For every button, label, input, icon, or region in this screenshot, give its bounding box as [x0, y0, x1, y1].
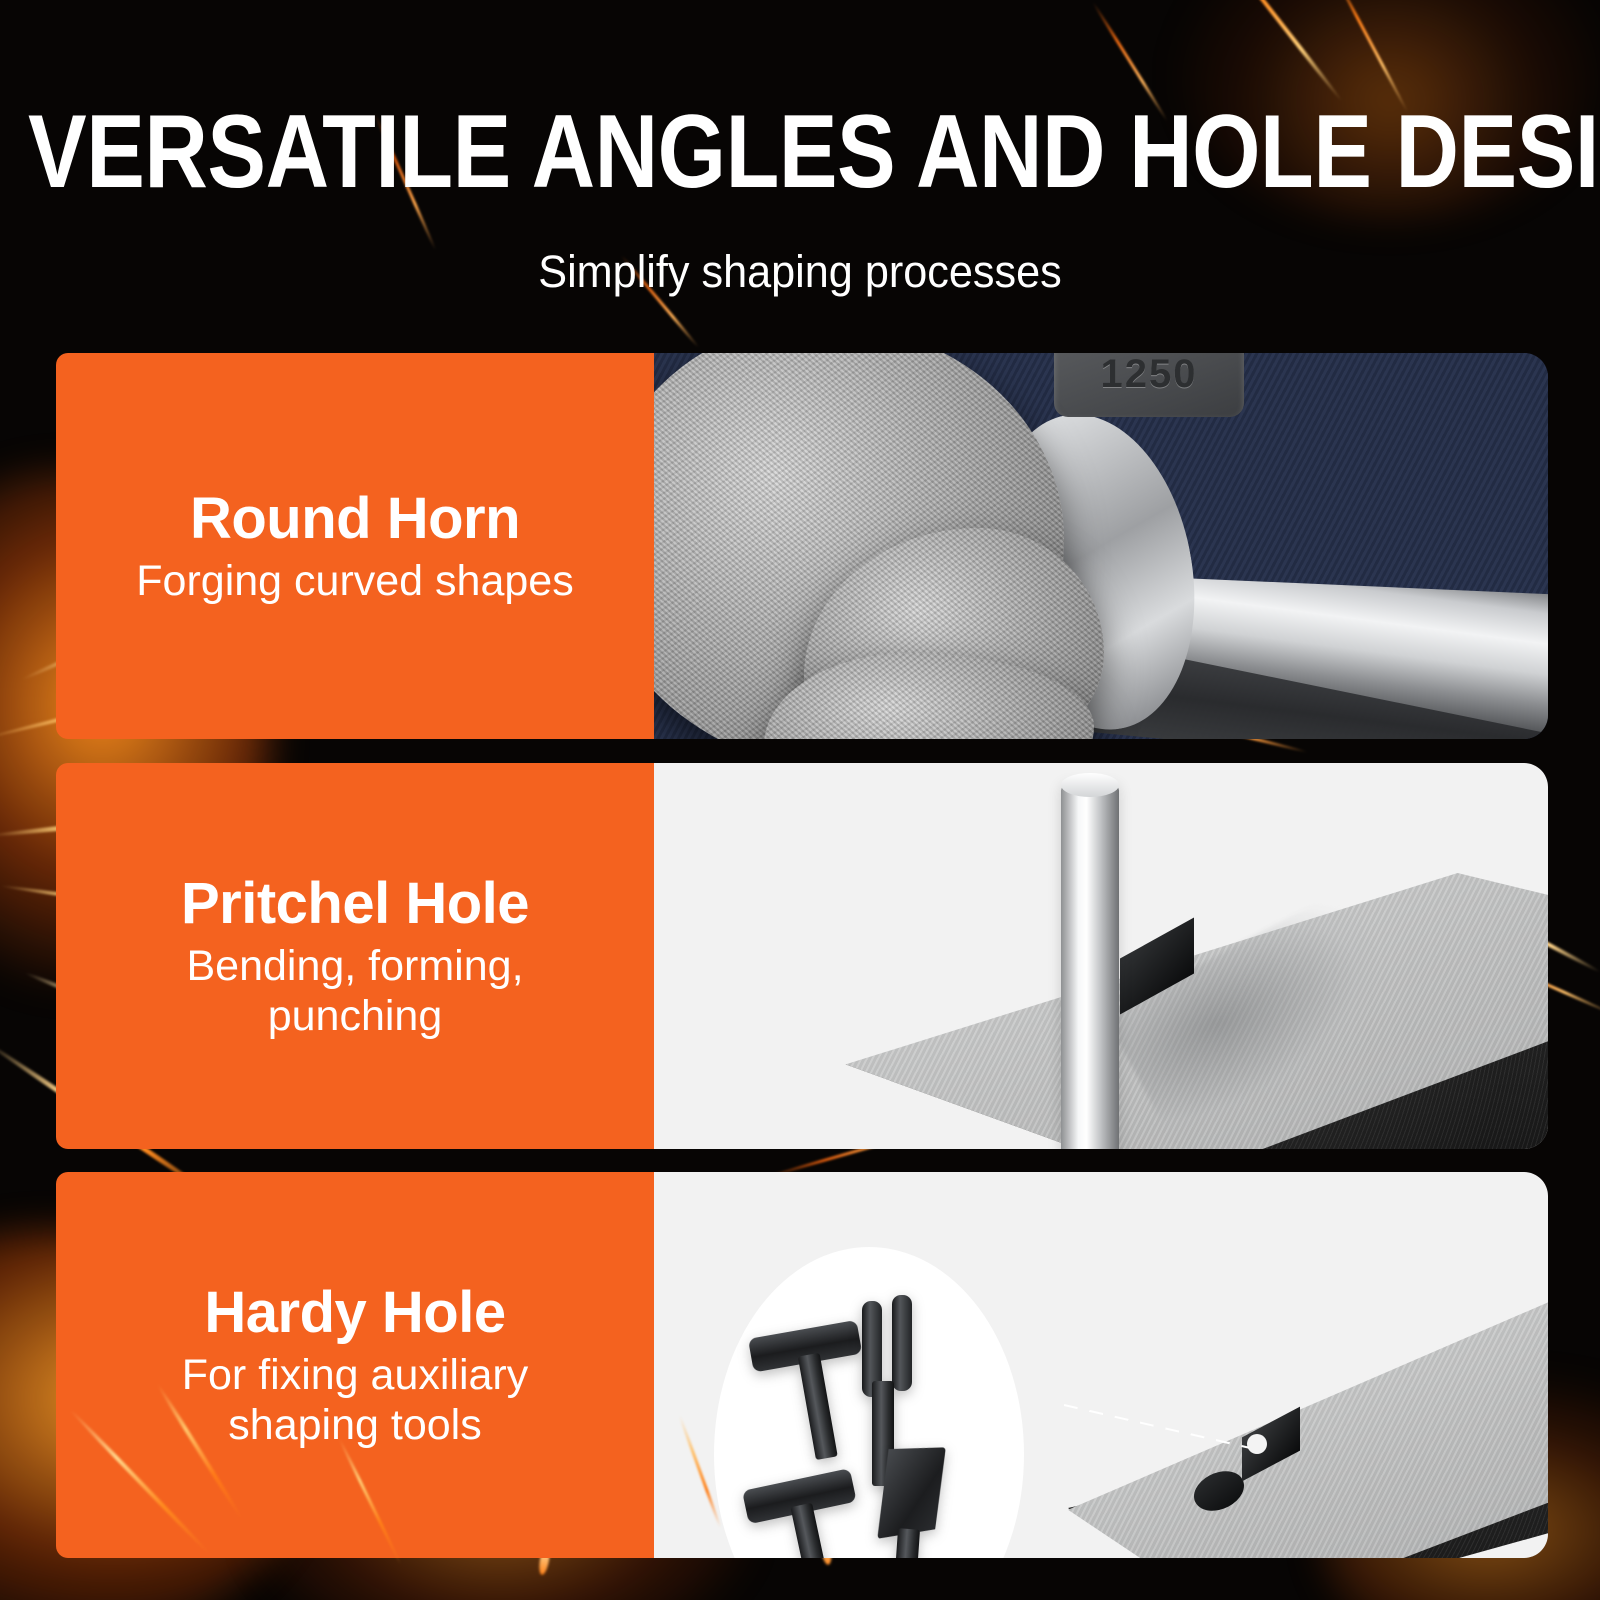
feature-photo-round-horn: 1250	[654, 353, 1548, 739]
steel-rod	[1061, 785, 1119, 1149]
callout-dashed-line	[1064, 1404, 1250, 1449]
anvil-face	[1054, 1292, 1548, 1558]
feature-subtitle-line: punching	[186, 991, 523, 1041]
steel-rod-cap	[1061, 773, 1119, 797]
feature-caption-round-horn: Round Horn Forging curved shapes	[56, 353, 654, 739]
feature-row-round-horn: Round Horn Forging curved shapes 1250	[56, 353, 1548, 739]
feature-title: Round Horn	[190, 486, 520, 552]
hardy-hole-highlight	[1247, 1434, 1267, 1454]
feature-title: Pritchel Hole	[181, 871, 529, 937]
weight-stamp: 1250	[1054, 353, 1244, 417]
feature-subtitle-line: For fixing auxiliary	[182, 1350, 529, 1400]
feature-title: Hardy Hole	[204, 1280, 505, 1346]
feature-subtitle: Forging curved shapes	[136, 556, 573, 606]
page-title: VERSATILE ANGLES AND HOLE DESIGN	[28, 100, 1339, 204]
callout-oval-inset	[714, 1247, 1024, 1558]
feature-subtitle-line: shaping tools	[182, 1400, 529, 1450]
page-subtitle: Simplify shaping processes	[32, 247, 1568, 297]
feature-subtitle: Bending, forming, punching	[186, 941, 523, 1041]
feature-subtitle-line: Bending, forming,	[186, 941, 523, 991]
infographic-canvas: VERSATILE ANGLES AND HOLE DESIGN Simplif…	[0, 0, 1600, 1600]
feature-row-hardy-hole: Hardy Hole For fixing auxiliary shaping …	[56, 1172, 1548, 1558]
feature-caption-hardy-hole: Hardy Hole For fixing auxiliary shaping …	[56, 1172, 654, 1558]
feature-photo-pritchel-hole	[654, 763, 1548, 1149]
feature-caption-pritchel-hole: Pritchel Hole Bending, forming, punching	[56, 763, 654, 1149]
feature-subtitle: For fixing auxiliary shaping tools	[182, 1350, 529, 1450]
feature-row-pritchel-hole: Pritchel Hole Bending, forming, punching	[56, 763, 1548, 1149]
feature-photo-hardy-hole	[654, 1172, 1548, 1558]
